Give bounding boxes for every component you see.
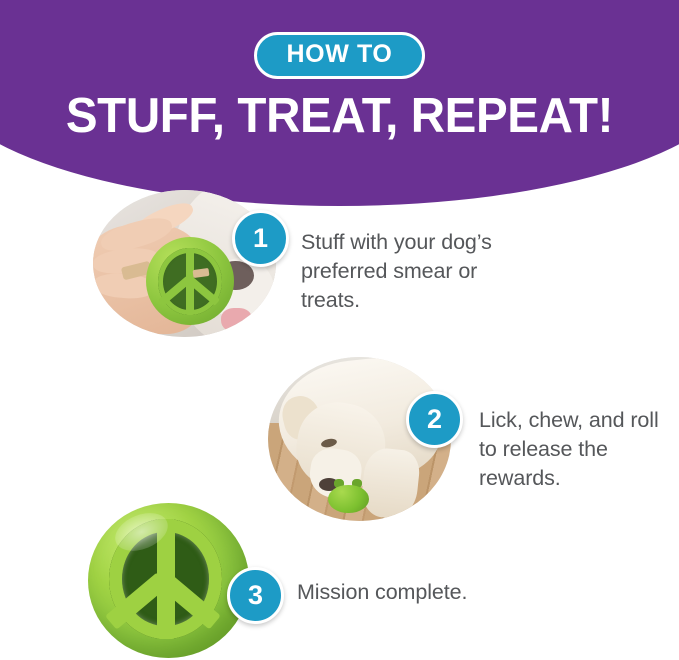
page-title: STUFF, TREAT, REPEAT! bbox=[10, 92, 669, 141]
step-2-description: Lick, chew, and roll to release the rewa… bbox=[479, 406, 679, 494]
header-content: HOW TO STUFF, TREAT, REPEAT! bbox=[0, 0, 679, 141]
step-1-description: Stuff with your dog’s preferred smear or… bbox=[301, 228, 511, 316]
how-to-badge: HOW TO bbox=[254, 32, 426, 79]
infographic-page: HOW TO STUFF, TREAT, REPEAT! bbox=[0, 0, 679, 660]
step-1-number-badge: 1 bbox=[232, 210, 289, 267]
step-3-number-badge: 3 bbox=[227, 567, 284, 624]
green-ball-small bbox=[328, 485, 368, 513]
step-3-product-image bbox=[88, 503, 249, 658]
green-peace-ball-small bbox=[146, 237, 234, 325]
step-2-number-badge: 2 bbox=[406, 391, 463, 448]
ball-body bbox=[328, 485, 368, 513]
step-3-description: Mission complete. bbox=[297, 578, 497, 607]
